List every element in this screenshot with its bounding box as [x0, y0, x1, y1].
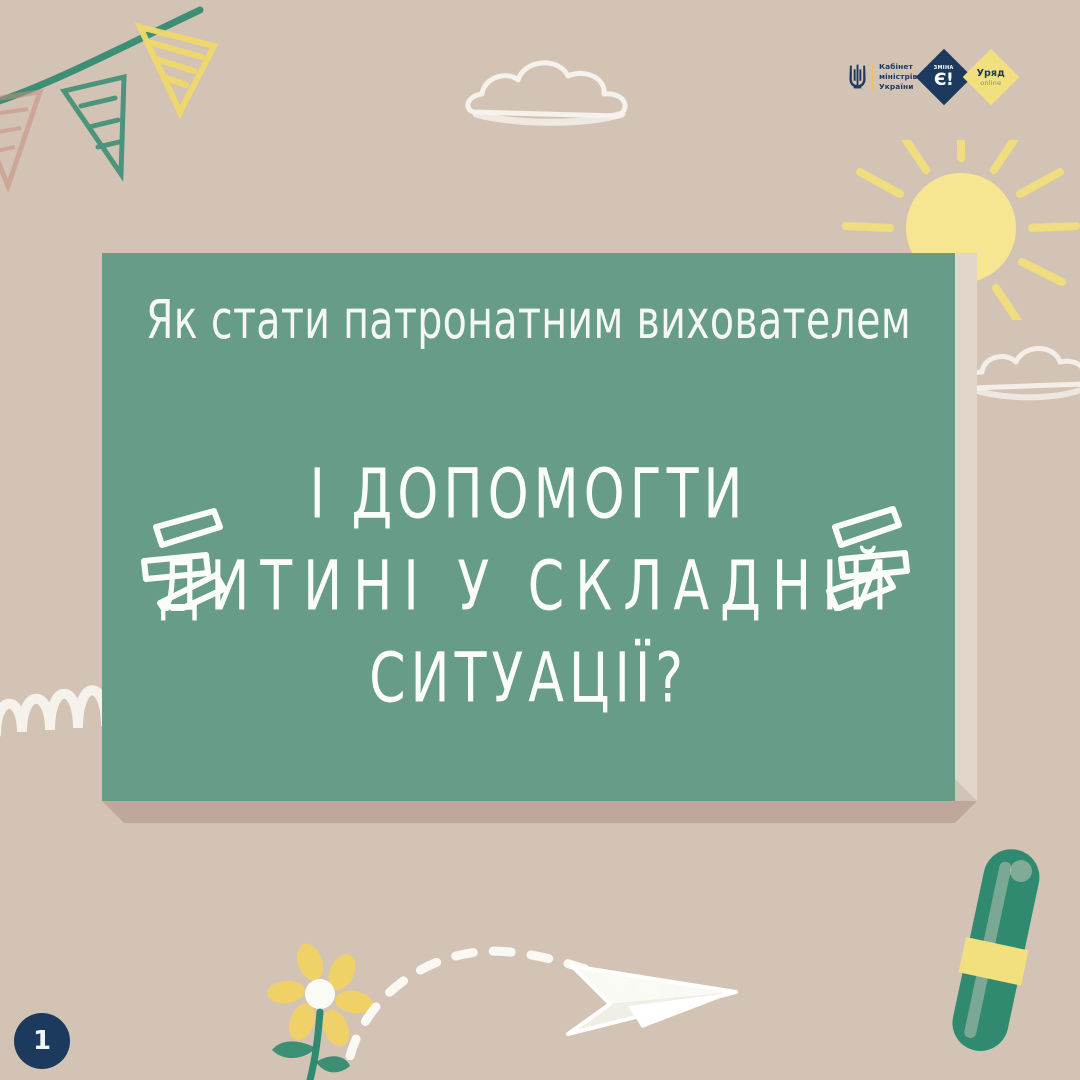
flower-icon	[258, 940, 388, 1080]
uryad-top-label: Уряд	[977, 69, 1005, 79]
chalkboard: Як стати патронатним вихователем	[102, 253, 977, 823]
headline-line-3: СИТУАЦІЇ?	[102, 632, 955, 724]
board-edge-right	[955, 253, 977, 801]
cloud-top-icon	[462, 50, 647, 130]
cabinet-of-ministers-logo: Кабінет міністрів України	[848, 62, 917, 92]
crayon-icon	[938, 838, 1058, 1063]
board-subtitle: Як стати патронатним вихователем	[102, 289, 955, 351]
dashed-trail-icon	[340, 930, 670, 1060]
bunting-garland-icon	[0, 0, 258, 209]
page-number-badge: 1	[14, 1013, 70, 1069]
uryad-online-logo: Уряд online	[963, 49, 1020, 106]
headline-line-1: І ДОПОМОГТИ	[102, 448, 955, 540]
logo-divider	[872, 65, 874, 90]
headline-line-2: ДИТИНІ У СКЛАДНІЙ	[102, 540, 955, 632]
uryad-sub-label: online	[977, 79, 1005, 86]
board-edge-bottom	[102, 801, 977, 823]
poster-canvas: Кабінет міністрів України ЗМІНА Є! Уряд …	[0, 0, 1080, 1080]
zmina-main-label: Є!	[934, 71, 954, 88]
logo-cluster: Кабінет міністрів України ЗМІНА Є! Уряд …	[848, 57, 1011, 97]
board-headline: І ДОПОМОГТИ ДИТИНІ У СКЛАДНІЙ СИТУАЦІЇ?	[102, 448, 955, 724]
board-surface: Як стати патронатним вихователем	[102, 253, 955, 801]
ukrainian-trident-icon	[848, 62, 867, 92]
cabinet-label: Кабінет міністрів України	[879, 62, 917, 92]
paper-airplane-icon	[550, 940, 740, 1040]
cloud-right-icon	[966, 338, 1080, 404]
